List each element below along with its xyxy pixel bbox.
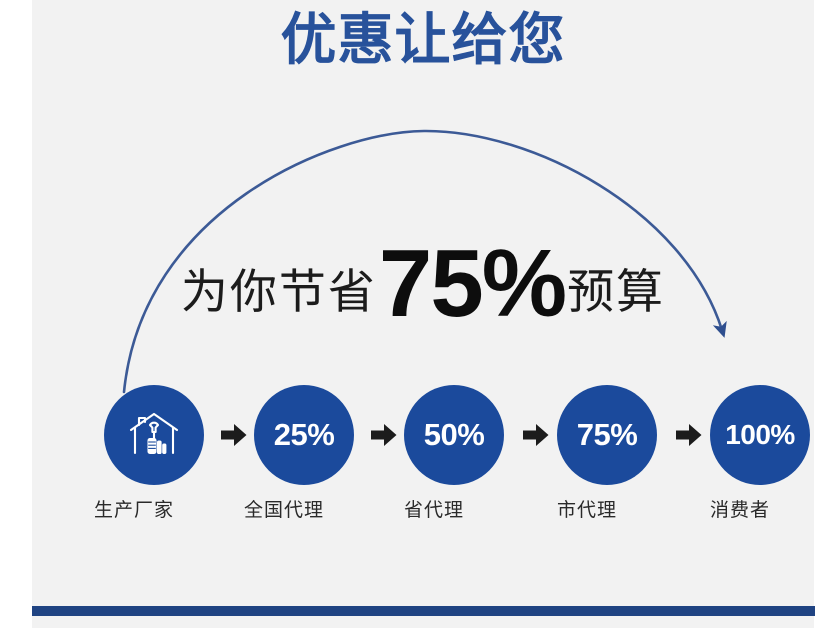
chain-node-value: 50% bbox=[424, 417, 485, 453]
chain-label-consumer: 消费者 bbox=[670, 498, 810, 524]
chain-node-factory[interactable] bbox=[104, 385, 204, 485]
chain-label-city: 市代理 bbox=[517, 498, 657, 524]
headline-suffix: 预算 bbox=[567, 267, 665, 317]
headline-prefix: 为你节省 bbox=[181, 267, 377, 317]
savings-headline: 为你节省 75% 预算 bbox=[32, 228, 814, 324]
chain-node-consumer[interactable]: 100% bbox=[710, 385, 810, 485]
infographic-poster: 优惠让给您 为你节省 75% 预算 bbox=[0, 0, 829, 636]
chain-node-city[interactable]: 75% bbox=[557, 385, 657, 485]
chain-node-value: 75% bbox=[577, 417, 638, 453]
bottom-accent-bar bbox=[32, 606, 815, 616]
chain-arrow-4 bbox=[675, 421, 703, 449]
headline-percent: 75% bbox=[379, 236, 565, 332]
chain-label-national: 全国代理 bbox=[214, 498, 354, 524]
factory-wrench-icon bbox=[124, 405, 184, 465]
chain-label-factory: 生产厂家 bbox=[64, 498, 204, 524]
chain-labels: 生产厂家 全国代理 省代理 市代理 消费者 bbox=[62, 498, 784, 528]
chain-node-national[interactable]: 25% bbox=[254, 385, 354, 485]
page-title: 优惠让给您 bbox=[32, 8, 814, 72]
chain-node-province[interactable]: 50% bbox=[404, 385, 504, 485]
chain-arrow-1 bbox=[220, 421, 248, 449]
chain-node-value: 25% bbox=[274, 417, 335, 453]
poster-canvas: 优惠让给您 为你节省 75% 预算 bbox=[32, 0, 814, 628]
chain-arrow-3 bbox=[522, 421, 550, 449]
chain-arrow-2 bbox=[370, 421, 398, 449]
chain-label-province: 省代理 bbox=[364, 498, 504, 524]
distribution-chain: 25% 50% 75% 100% bbox=[62, 385, 784, 485]
chain-node-value: 100% bbox=[725, 419, 795, 451]
